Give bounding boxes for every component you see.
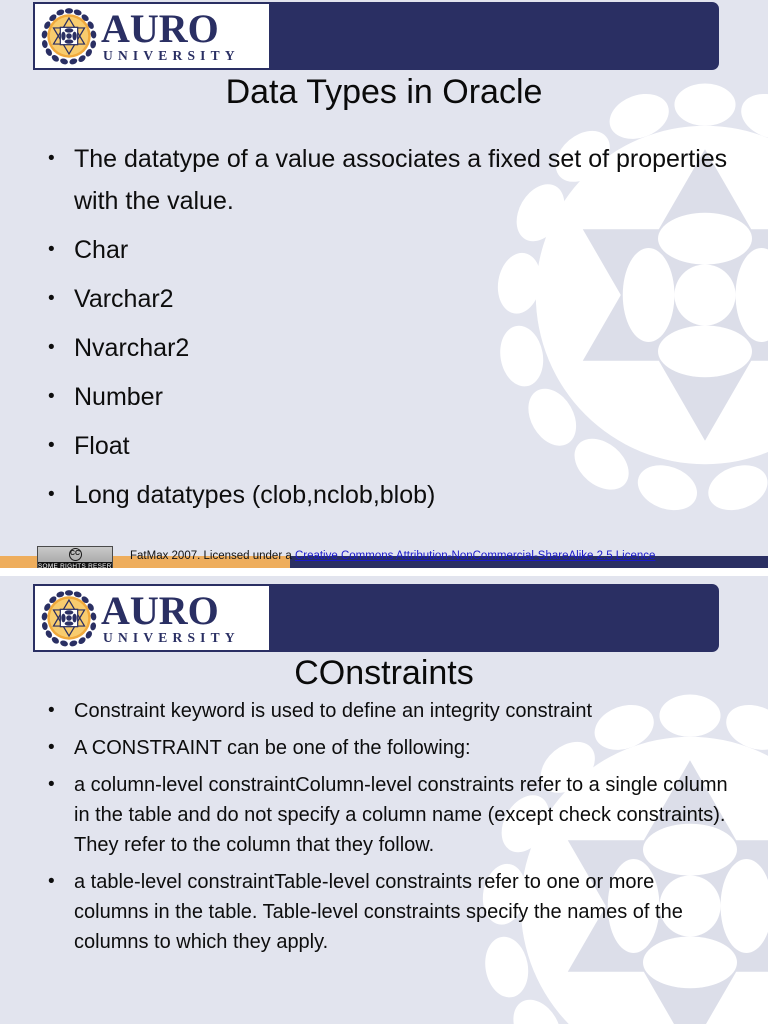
- creative-commons-badge-icon: CC SOME RIGHTS RESERVED: [37, 546, 113, 568]
- auro-university-logo: AURO UNIVERSITY: [33, 2, 271, 70]
- license-link[interactable]: Creative Commons Attribution-NonCommerci…: [295, 550, 655, 562]
- list-item: a table-level constraintTable-level cons…: [42, 867, 732, 957]
- page-title: Data Types in Oracle: [0, 73, 768, 112]
- presentation-page: AURO UNIVERSITY Data Types in Oracle The…: [0, 0, 768, 1024]
- logo-title: AURO: [101, 591, 269, 630]
- slide-body-list: The datatype of a value associates a fix…: [42, 138, 732, 523]
- slide-body-list: Constraint keyword is used to define an …: [42, 696, 732, 964]
- list-item: A CONSTRAINT can be one of the following…: [42, 733, 732, 763]
- cc-rights-label: SOME RIGHTS RESERVED: [38, 562, 112, 568]
- logo-wordmark: AURO UNIVERSITY: [101, 591, 269, 645]
- list-item: a column-level constraintColumn-level co…: [42, 770, 732, 860]
- auro-university-logo: AURO UNIVERSITY: [33, 584, 271, 652]
- logo-subtitle: UNIVERSITY: [103, 631, 269, 645]
- license-credit-text: FatMax 2007. Licensed under a: [130, 550, 295, 562]
- license-credit-line: FatMax 2007. Licensed under a Creative C…: [130, 550, 760, 562]
- list-item: Float: [42, 425, 732, 467]
- auro-emblem-icon: [38, 587, 100, 649]
- logo-title: AURO: [101, 9, 269, 48]
- list-item: Char: [42, 229, 732, 271]
- list-item: Number: [42, 376, 732, 418]
- slide-constraints: AURO UNIVERSITY COnstraints Constraint k…: [0, 576, 768, 1024]
- slide-data-types-in-oracle: AURO UNIVERSITY Data Types in Oracle The…: [0, 0, 768, 568]
- list-item: Varchar2: [42, 278, 732, 320]
- cc-mark: CC: [69, 548, 82, 561]
- list-item: Nvarchar2: [42, 327, 732, 369]
- logo-subtitle: UNIVERSITY: [103, 49, 269, 63]
- list-item: Long datatypes (clob,nclob,blob): [42, 474, 732, 516]
- list-item: Constraint keyword is used to define an …: [42, 696, 732, 726]
- page-title: COnstraints: [0, 654, 768, 693]
- logo-wordmark: AURO UNIVERSITY: [101, 9, 269, 63]
- list-item: The datatype of a value associates a fix…: [42, 138, 732, 222]
- auro-emblem-icon: [38, 5, 100, 67]
